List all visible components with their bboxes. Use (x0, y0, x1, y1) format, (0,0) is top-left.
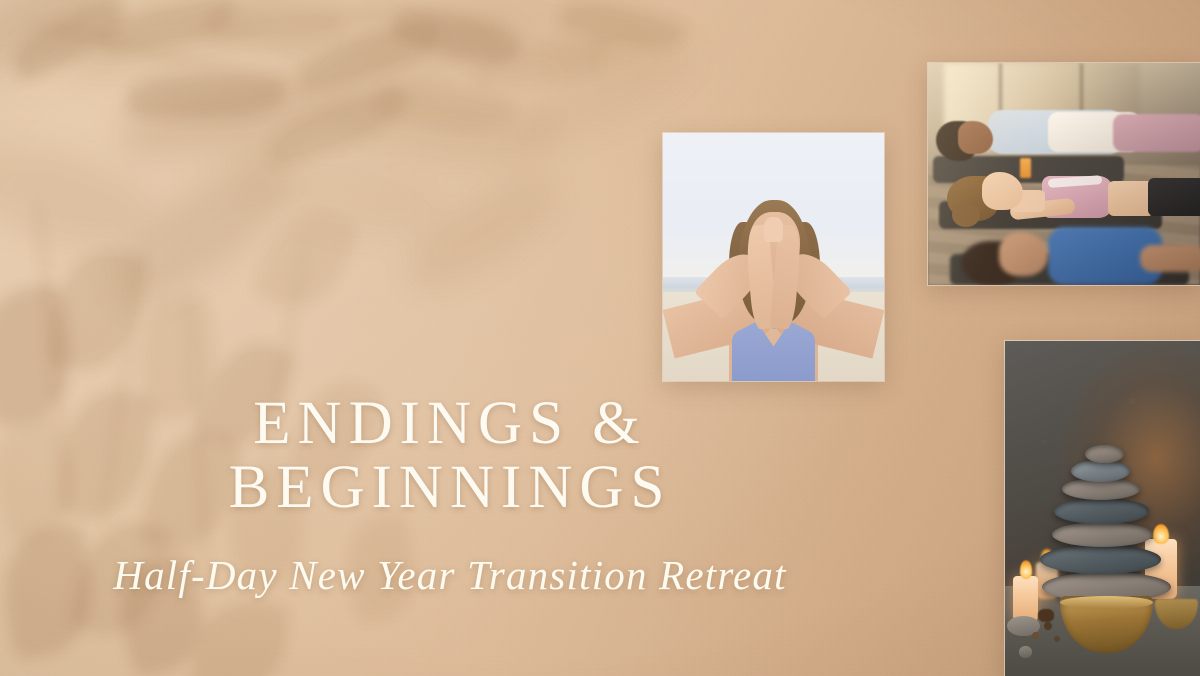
event-subtitle: Half-Day New Year Transition Retreat (0, 551, 900, 599)
event-banner: ENDINGS & BEGINNINGS Half-Day New Year T… (0, 0, 1200, 676)
savasana-group-photo (928, 63, 1200, 285)
star-anise (1038, 609, 1054, 622)
brass-bowl-rim (1060, 596, 1154, 609)
zen-stones-candles-photo (1005, 341, 1200, 676)
seed-2 (1054, 636, 1060, 642)
pebble-2 (1019, 646, 1033, 658)
title-line-2: BEGINNINGS (0, 456, 900, 520)
event-title: ENDINGS & BEGINNINGS (0, 392, 900, 520)
title-line-1: ENDINGS & (0, 392, 900, 456)
warm-light-overlay (928, 63, 1200, 285)
thumbs (764, 217, 784, 242)
flame-left (1020, 560, 1033, 578)
zen-stone-5 (1052, 522, 1153, 547)
flame-right (1153, 524, 1169, 544)
zen-stone-2 (1071, 460, 1130, 482)
zen-stone-4 (1054, 498, 1150, 523)
woman-praying-pose-photo (663, 133, 884, 381)
zen-stone-1 (1085, 445, 1124, 463)
zen-stone-6 (1040, 545, 1161, 573)
